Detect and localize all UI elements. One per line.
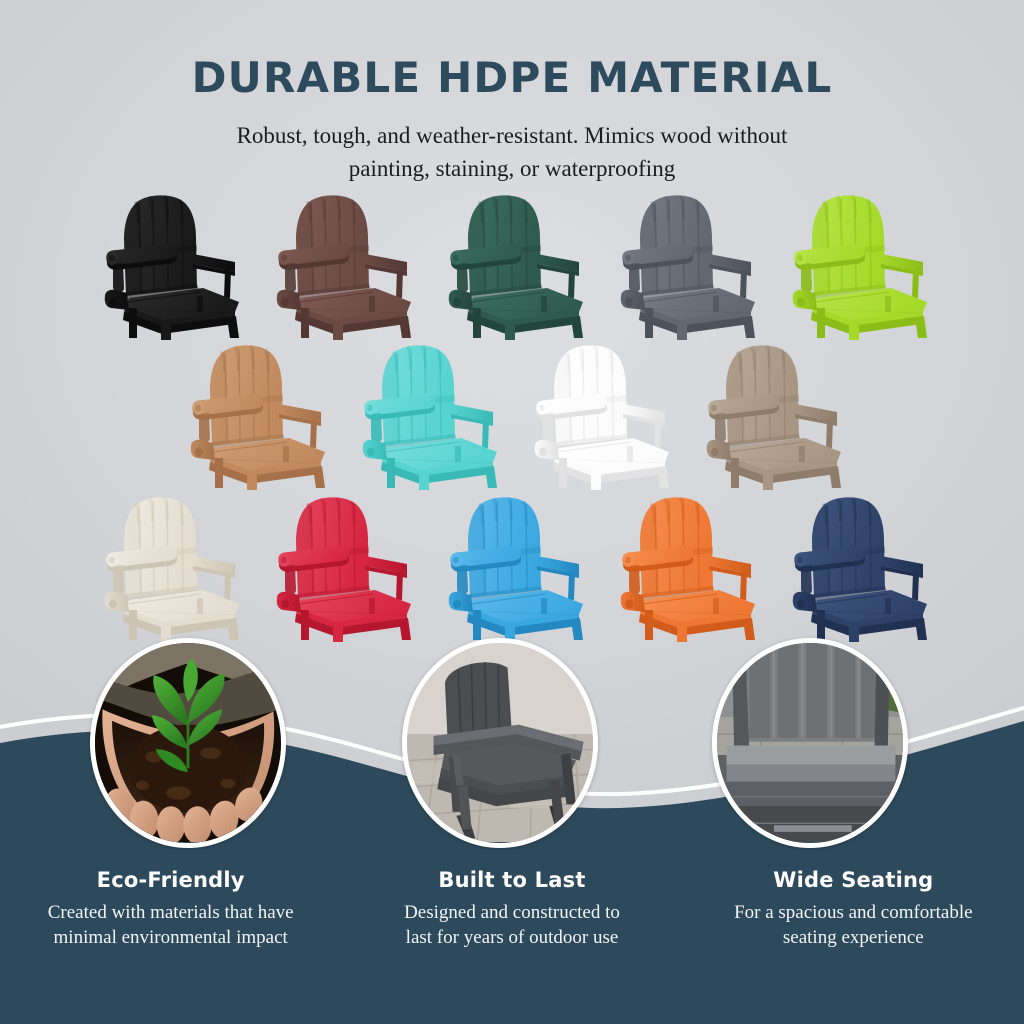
chair-swatch-gray[interactable] <box>598 190 770 340</box>
chair-swatch-sky-blue[interactable] <box>426 492 598 642</box>
feature-caption-3: Wide SeatingFor a spacious and comfortab… <box>683 868 1024 951</box>
chair-swatch-white[interactable] <box>512 340 684 490</box>
chair-swatch-crimson-red[interactable] <box>254 492 426 642</box>
chair-swatch-camel-tan[interactable] <box>168 340 340 490</box>
chair-row-3 <box>0 494 1024 642</box>
page-subtitle: Robust, tough, and weather-resistant. Mi… <box>0 120 1024 185</box>
chair-graphic <box>93 192 243 340</box>
chair-row-1 <box>0 190 1024 340</box>
closeup-wide-seat-image <box>717 643 903 842</box>
chair-swatch-ivory-cream[interactable] <box>82 492 254 642</box>
infographic-page: DURABLE HDPE MATERIAL Robust, tough, and… <box>0 0 1024 1024</box>
feature-body-line-2: minimal environmental impact <box>12 925 329 950</box>
feature-photo-eco-friendly <box>90 638 286 848</box>
page-subtitle-line-2: painting, staining, or waterproofing <box>0 153 1024 186</box>
chair-graphic <box>351 342 501 490</box>
page-title: DURABLE HDPE MATERIAL <box>0 56 1024 100</box>
gray-chair-on-patio-image <box>407 643 593 842</box>
chair-graphic <box>179 342 329 490</box>
chair-swatch-orange[interactable] <box>598 492 770 642</box>
feature-title: Wide Seating <box>695 868 1012 892</box>
feature-body: Designed and constructed tolast for year… <box>353 900 670 951</box>
chair-graphic <box>781 494 931 642</box>
feature-caption-2: Built to LastDesigned and constructed to… <box>341 868 682 951</box>
hands-holding-seedling-image <box>95 643 281 842</box>
feature-title: Eco-Friendly <box>12 868 329 892</box>
feature-body: For a spacious and comfortableseating ex… <box>695 900 1012 951</box>
chair-graphic <box>609 192 759 340</box>
header: DURABLE HDPE MATERIAL Robust, tough, and… <box>0 0 1024 185</box>
feature-body-line-2: last for years of outdoor use <box>353 925 670 950</box>
chair-graphic <box>437 494 587 642</box>
page-subtitle-line-1: Robust, tough, and weather-resistant. Mi… <box>0 120 1024 153</box>
chair-row-2 <box>0 342 1024 490</box>
chair-graphic <box>695 342 845 490</box>
chair-graphic <box>265 192 415 340</box>
feature-title: Built to Last <box>353 868 670 892</box>
feature-body-line-1: For a spacious and comfortable <box>695 900 1012 925</box>
chair-graphic <box>93 494 243 642</box>
chair-graphic <box>609 494 759 642</box>
feature-caption-1: Eco-FriendlyCreated with materials that … <box>0 868 341 951</box>
chair-swatch-taupe[interactable] <box>684 340 856 490</box>
feature-body-line-1: Designed and constructed to <box>353 900 670 925</box>
chair-swatch-lime-green[interactable] <box>770 190 942 340</box>
chair-swatch-black[interactable] <box>82 190 254 340</box>
feature-photo-wide-seating <box>712 638 908 848</box>
chair-graphic <box>437 192 587 340</box>
chair-color-grid <box>0 190 1024 642</box>
chair-swatch-brown[interactable] <box>254 190 426 340</box>
chair-graphic <box>523 342 673 490</box>
feature-body-line-2: seating experience <box>695 925 1012 950</box>
chair-swatch-turquoise[interactable] <box>340 340 512 490</box>
chair-graphic <box>265 494 415 642</box>
feature-photos <box>0 638 1024 878</box>
feature-body: Created with materials that haveminimal … <box>12 900 329 951</box>
chair-swatch-navy-blue[interactable] <box>770 492 942 642</box>
feature-photo-built-to-last <box>402 638 598 848</box>
chair-swatch-dark-green[interactable] <box>426 190 598 340</box>
chair-graphic <box>781 192 931 340</box>
feature-captions: Eco-FriendlyCreated with materials that … <box>0 868 1024 951</box>
feature-body-line-1: Created with materials that have <box>12 900 329 925</box>
